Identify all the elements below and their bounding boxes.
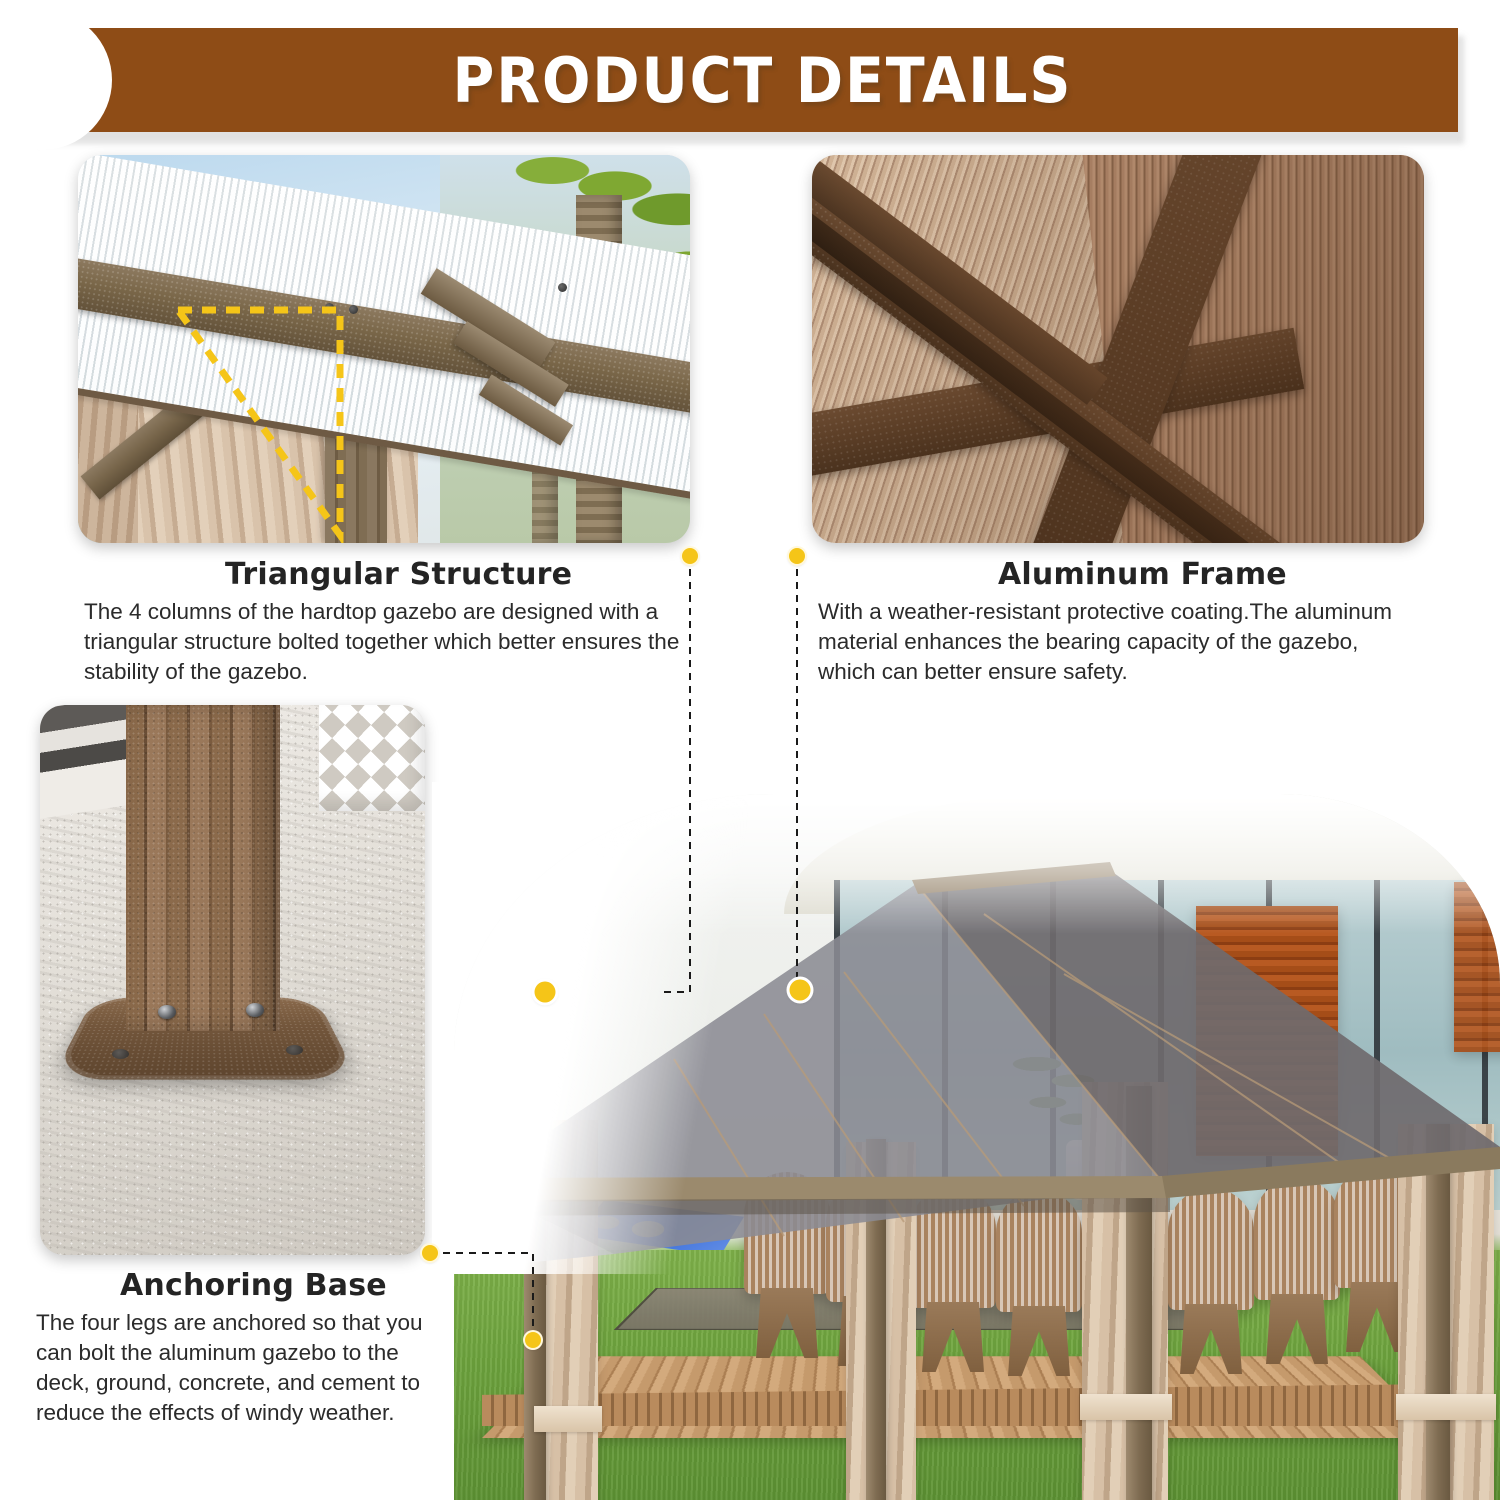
column-texture [126,705,280,1031]
feature-body-anchoring: The four legs are anchored so that you c… [36,1308,456,1428]
gazebo-aluminum-column [126,705,280,1031]
callout-dot-aluminum-top [789,548,805,564]
curtain-tieback [1080,1394,1172,1420]
hero-scene [454,794,1500,1500]
feature-body-triangular: The 4 columns of the hardtop gazebo are … [84,597,684,687]
anchor-hole [286,1045,303,1055]
callout-dot-triangular-top [682,548,698,564]
anchoring-base-photo [40,705,425,1255]
photo-left-fade [454,794,754,1274]
page-header-banner: PRODUCT DETAILS [30,28,1458,136]
anchor-bolt [158,1005,176,1019]
curtain-tieback [1396,1394,1496,1420]
triangle-highlight-overlay [78,155,690,543]
feature-body-aluminum: With a weather-resistant protective coat… [818,597,1418,687]
background-patterned-stool [319,705,425,811]
aluminum-frame-photo [812,155,1424,543]
lighting-gradient [812,155,1424,543]
banner-background: PRODUCT DETAILS [30,28,1458,132]
anchor-bolt [246,1003,264,1017]
feature-title-aluminum: Aluminum Frame [998,557,1287,592]
product-details-page: PRODUCT DETAILS [0,0,1500,1500]
anchor-hole [112,1049,129,1059]
triangular-structure-photo [78,155,690,543]
page-title: PRODUCT DETAILS [87,28,1401,132]
feature-title-triangular: Triangular Structure [225,557,572,592]
hero-product-photo [432,782,1500,1500]
feature-title-anchoring: Anchoring Base [120,1268,387,1303]
curtain-tieback [534,1406,602,1432]
